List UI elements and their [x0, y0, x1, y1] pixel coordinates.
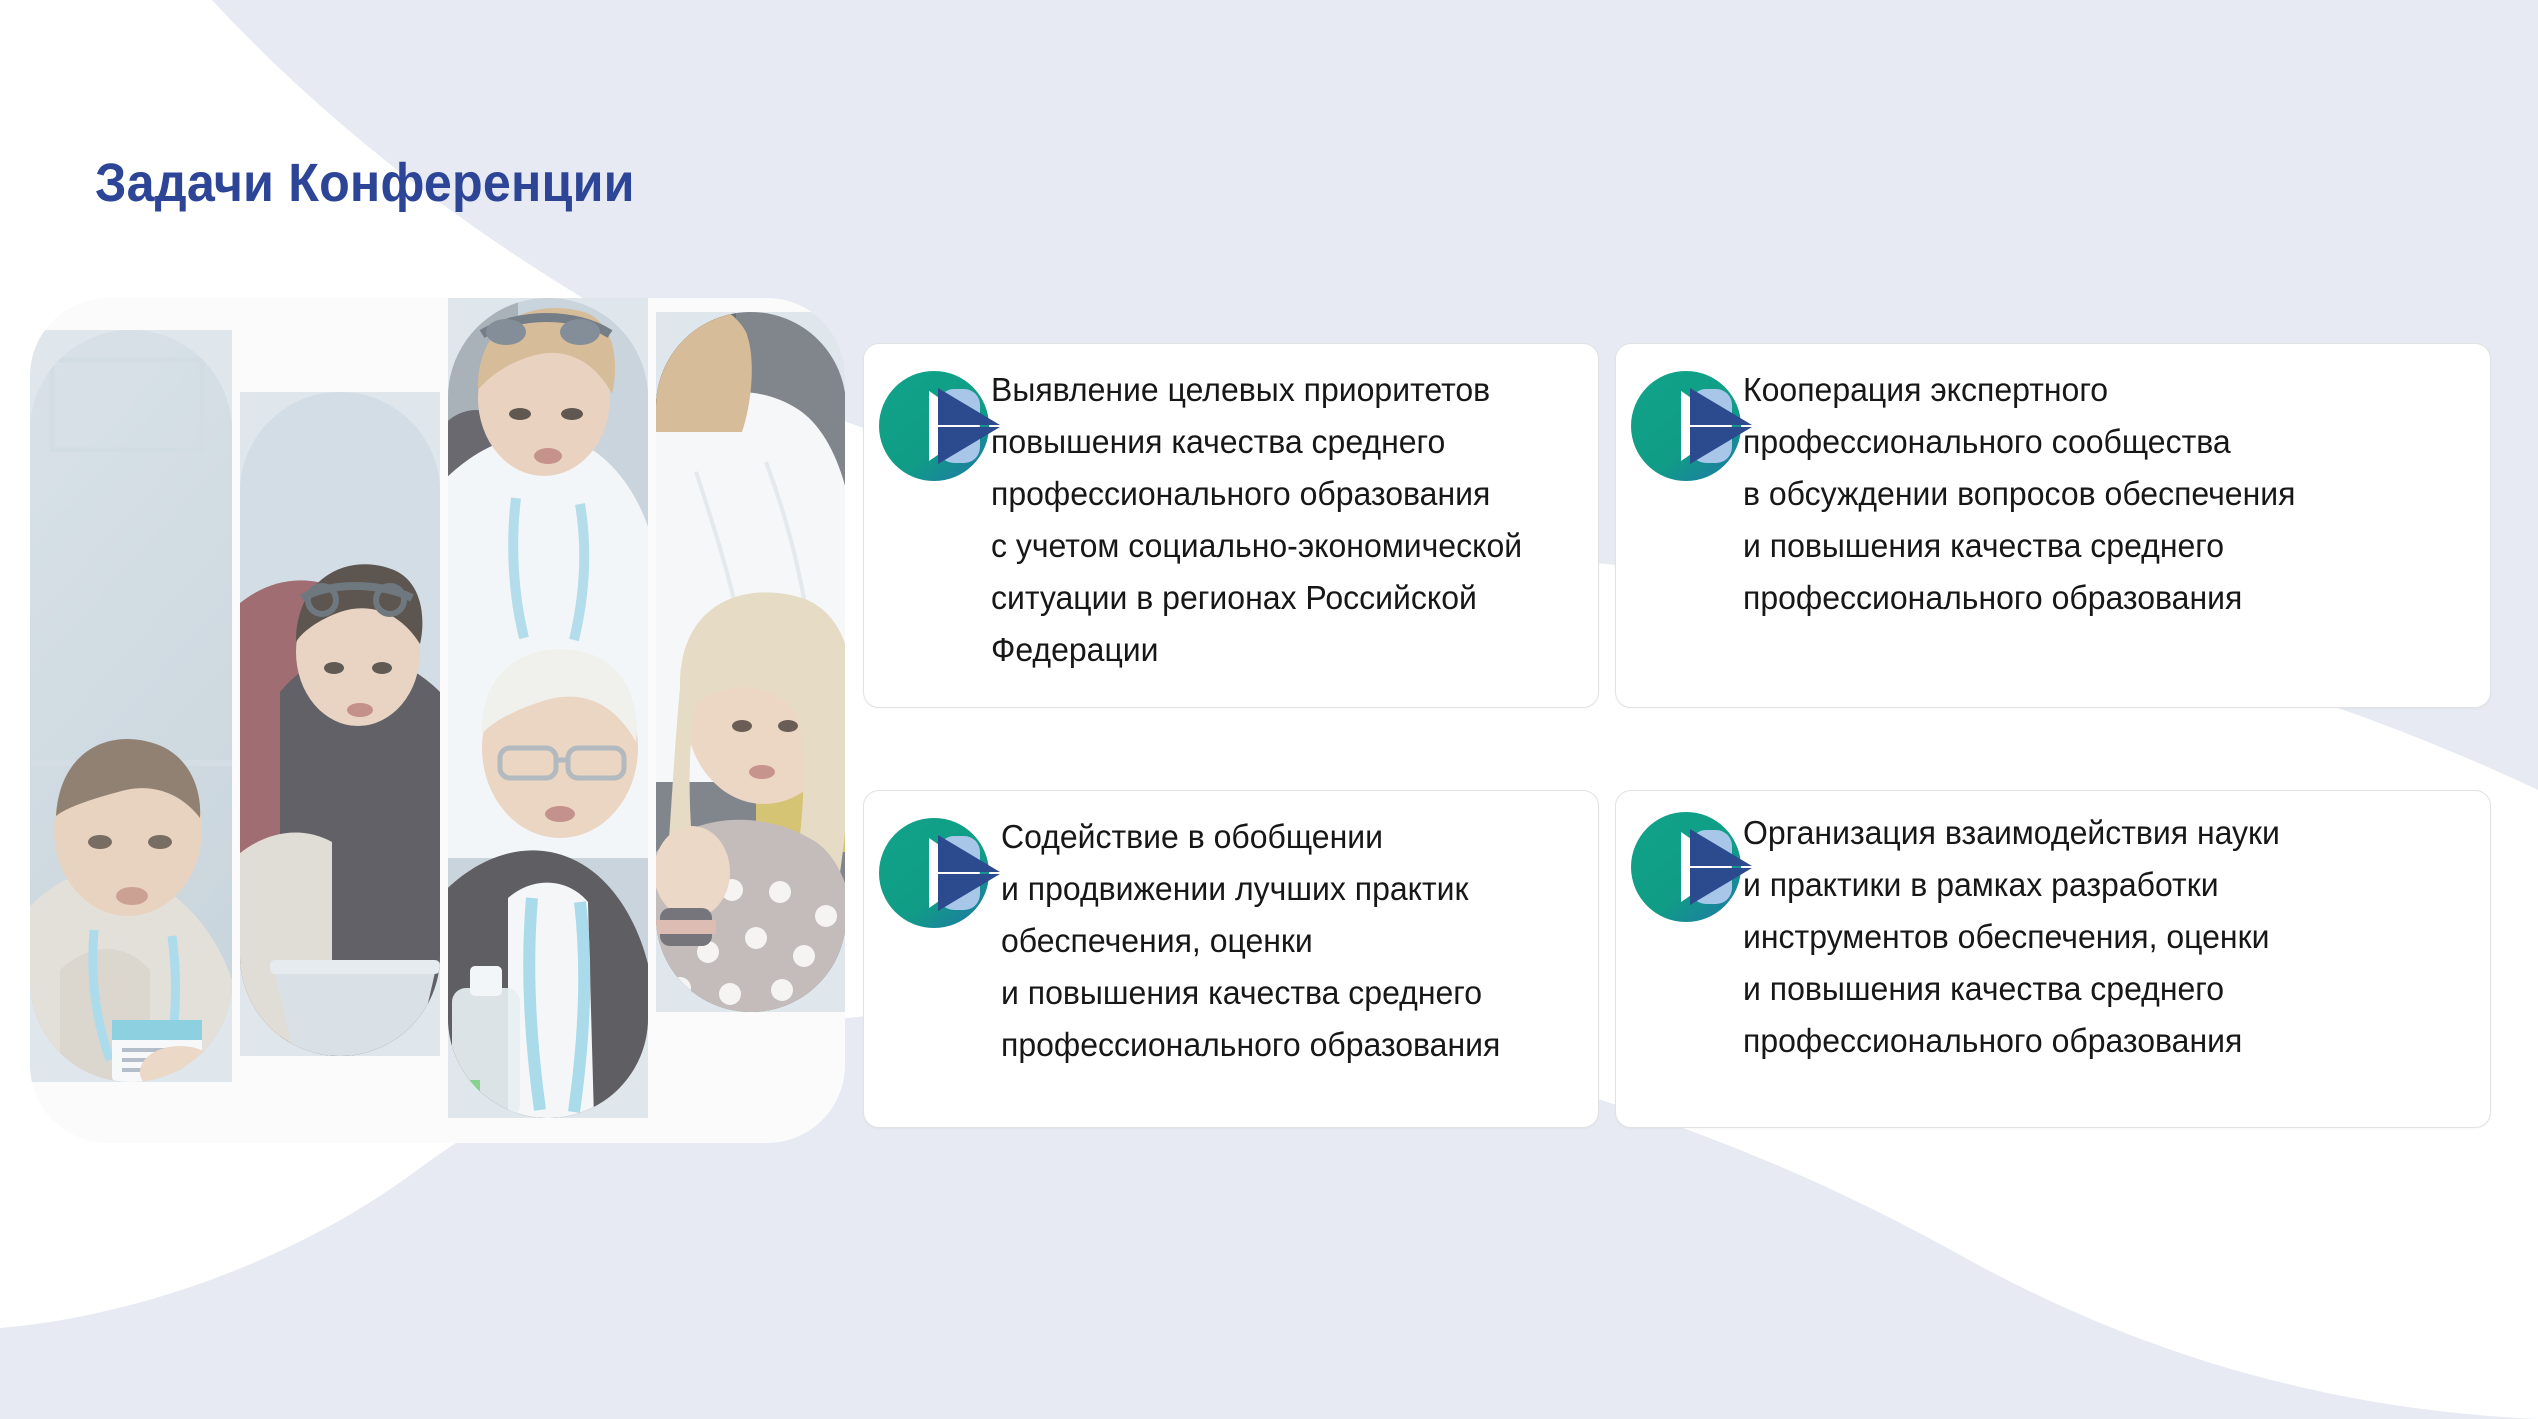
photo-strip-3 [448, 298, 648, 1118]
photo-strip-1 [30, 330, 232, 1082]
play-arrow-icon [1628, 804, 1754, 930]
play-arrow-icon [1628, 363, 1754, 489]
task-card-2-text: Кооперация экспертного профессионального… [1743, 365, 2469, 625]
task-card-4-text: Организация взаимодействия науки и практ… [1743, 808, 2469, 1068]
photo-strip-2 [240, 392, 440, 1056]
task-card-2[interactable]: Кооперация экспертного профессионального… [1615, 343, 2491, 708]
page-title: Задачи Конференции [95, 152, 635, 214]
photo-strip-4 [656, 312, 845, 1012]
task-card-3-text: Содействие в обобщении и продвижении луч… [1001, 812, 1593, 1072]
task-card-3[interactable]: Содействие в обобщении и продвижении луч… [863, 790, 1599, 1128]
task-card-1-text: Выявление целевых приоритетов повышения … [991, 365, 1583, 677]
task-card-4[interactable]: Организация взаимодействия науки и практ… [1615, 790, 2491, 1128]
conference-photo-collage [30, 298, 845, 1143]
play-arrow-icon [876, 363, 1002, 489]
play-arrow-icon [876, 810, 1002, 936]
task-card-1[interactable]: Выявление целевых приоритетов повышения … [863, 343, 1599, 708]
